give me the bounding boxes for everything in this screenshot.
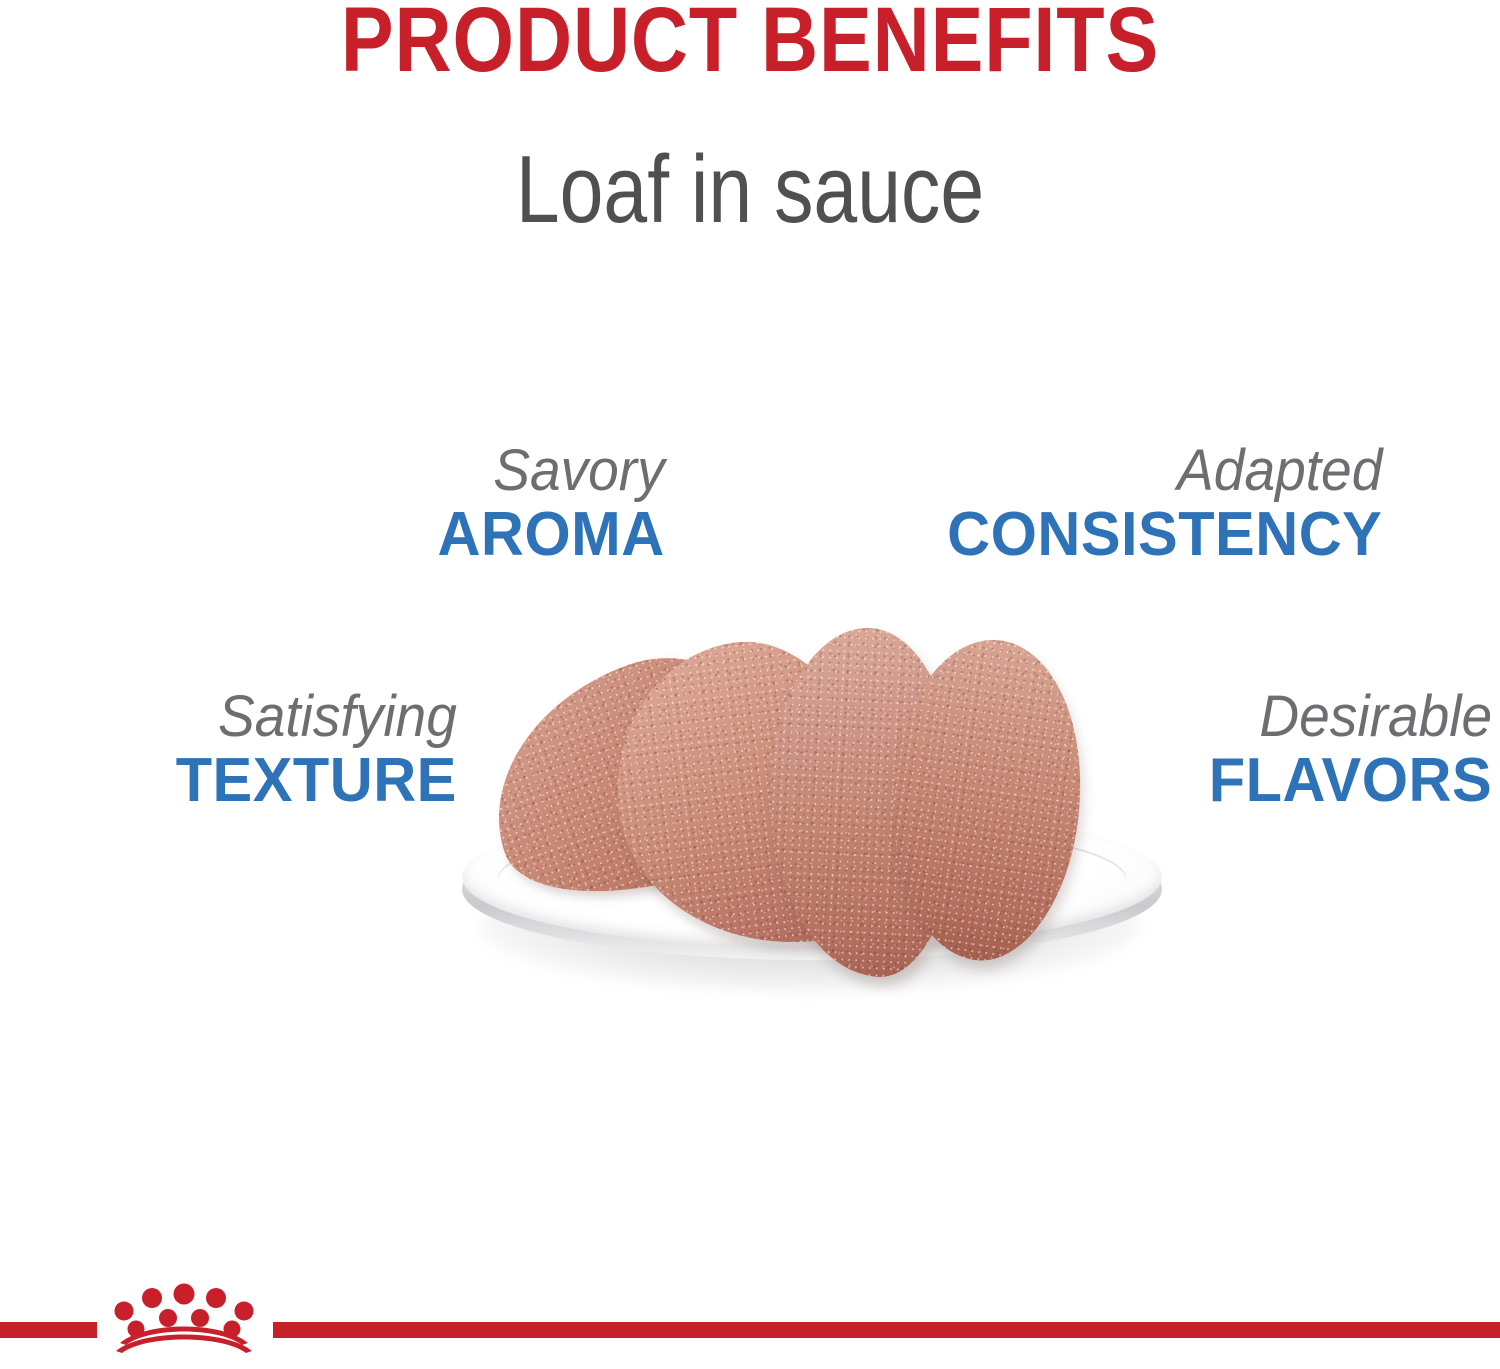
benefit-texture-name: TEXTURE — [176, 746, 457, 815]
benefit-flavors-name: FLAVORS — [1209, 746, 1492, 815]
product-photo-plate-of-loaf — [440, 600, 1180, 1030]
benefit-aroma: Savory AROMA — [428, 442, 665, 569]
page-subtitle: Loaf in sauce — [135, 140, 1365, 241]
benefit-texture-qualifier: Satisfying — [179, 688, 457, 746]
benefit-aroma-name: AROMA — [438, 500, 665, 569]
benefit-consistency: Adapted CONSISTENCY — [929, 442, 1382, 569]
benefit-flavors: Desirable FLAVORS — [1197, 688, 1492, 815]
brand-rule-right-segment — [273, 1322, 1500, 1338]
brand-rule-left-segment — [0, 1322, 97, 1338]
benefit-flavors-qualifier: Desirable — [1212, 688, 1492, 746]
benefit-texture: Satisfying TEXTURE — [164, 688, 457, 815]
benefit-consistency-name: CONSISTENCY — [947, 500, 1382, 569]
page-title: PRODUCT BENEFITS — [105, 0, 1395, 89]
royal-canin-crown-icon — [98, 1283, 270, 1353]
product-benefits-panel: PRODUCT BENEFITS Loaf in sauce Savory AR… — [0, 0, 1500, 1369]
benefit-consistency-qualifier: Adapted — [951, 442, 1382, 500]
benefit-aroma-qualifier: Savory — [440, 442, 665, 500]
